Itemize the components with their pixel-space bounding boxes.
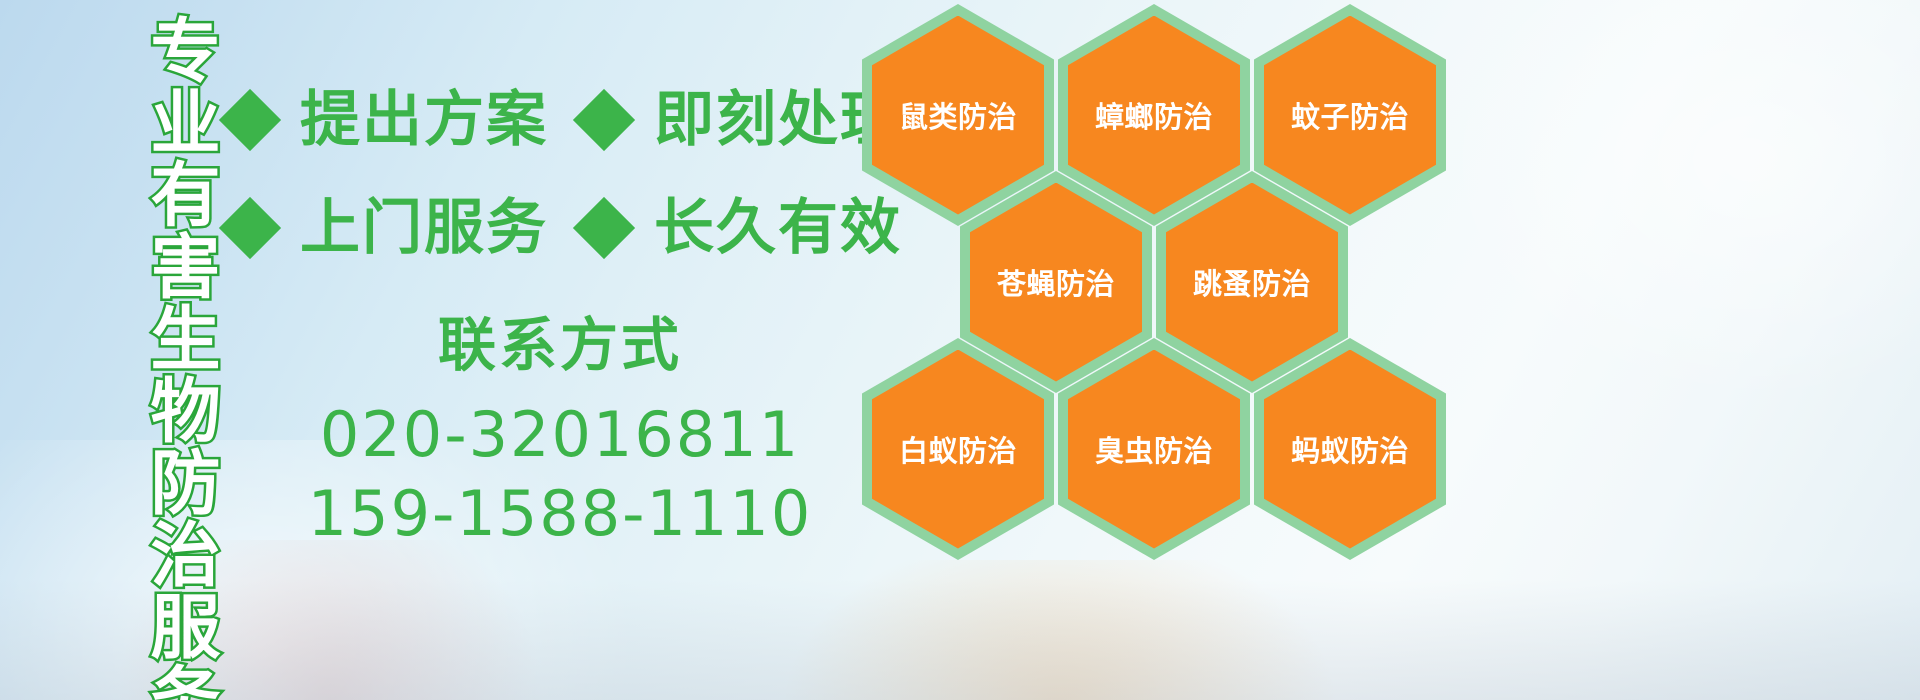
pest-control-banner: 专业有害生物防治服务 提出方案 即刻处理 上门服务 长久有效 联系方式 020-… — [0, 0, 1920, 700]
contact-title: 联系方式 — [300, 312, 820, 379]
service-label: 鼠类防治 — [899, 94, 1017, 136]
diamond-icon — [573, 197, 635, 259]
feature-label-onsite-service: 上门服务 — [300, 198, 548, 258]
hex-inner: 蚊子防治 — [1264, 16, 1436, 215]
service-label: 白蚁防治 — [899, 428, 1017, 470]
hex-inner: 苍蝇防治 — [970, 183, 1142, 382]
background-glow-right — [1440, 0, 1920, 400]
diamond-icon — [219, 89, 281, 151]
service-label: 臭虫防治 — [1095, 428, 1213, 470]
feature-label-propose-plan: 提出方案 — [300, 90, 548, 150]
vertical-headline: 专业有害生物防治服务 — [108, 14, 216, 686]
phone-secondary[interactable]: 159-1588-1110 — [300, 474, 820, 553]
feature-row-1: 提出方案 即刻处理 — [228, 90, 902, 150]
hex-inner: 蚂蚁防治 — [1264, 350, 1436, 549]
service-label: 跳蚤防治 — [1193, 261, 1311, 303]
service-label: 蟑螂防治 — [1095, 94, 1213, 136]
contact-block: 联系方式 020-32016811 159-1588-1110 — [300, 312, 820, 553]
service-label: 蚊子防治 — [1291, 94, 1409, 136]
hex-inner: 白蚁防治 — [872, 350, 1044, 549]
service-label: 苍蝇防治 — [997, 261, 1115, 303]
service-label: 蚂蚁防治 — [1291, 428, 1409, 470]
hex-inner: 跳蚤防治 — [1166, 183, 1338, 382]
phone-primary[interactable]: 020-32016811 — [300, 395, 820, 474]
feature-row-2: 上门服务 长久有效 — [228, 198, 902, 258]
diamond-icon — [573, 89, 635, 151]
service-honeycomb: 鼠类防治 蟑螂防治 蚊子防治 苍蝇防治 跳蚤防治 白蚁防治 — [862, 0, 1462, 556]
background-bottom-fade — [0, 580, 1920, 700]
hex-inner: 鼠类防治 — [872, 16, 1044, 215]
hex-inner: 臭虫防治 — [1068, 350, 1240, 549]
diamond-icon — [219, 197, 281, 259]
background-glow-orange — [780, 560, 1340, 700]
hex-inner: 蟑螂防治 — [1068, 16, 1240, 215]
